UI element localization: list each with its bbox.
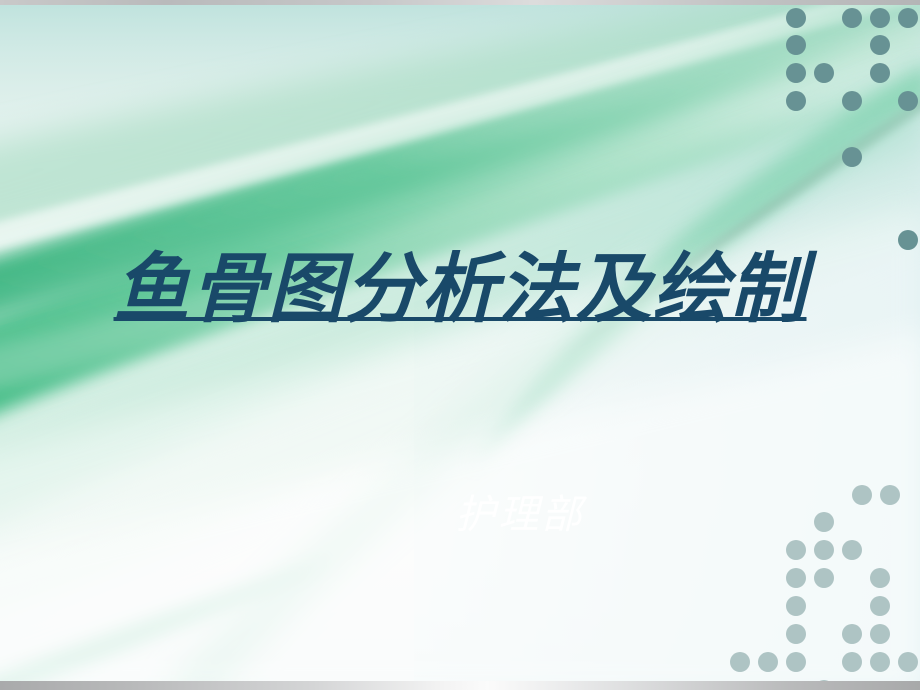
decorative-dot	[870, 35, 890, 55]
decorative-dot	[786, 652, 806, 672]
presentation-slide: 鱼骨图分析法及绘制 护理部	[0, 0, 920, 690]
decorative-dot	[842, 652, 862, 672]
decorative-dot	[870, 596, 890, 616]
decorative-dot	[786, 91, 806, 111]
decorative-dot	[758, 652, 778, 672]
decorative-dot	[842, 624, 862, 644]
decorative-dot	[870, 63, 890, 83]
decorative-dot	[786, 624, 806, 644]
green-ribbons-decoration	[0, 0, 920, 690]
decorative-dot	[898, 91, 918, 111]
decorative-dot	[852, 485, 872, 505]
decorative-dot	[786, 568, 806, 588]
top-frame-strip	[0, 0, 920, 5]
decorative-dot	[814, 63, 834, 83]
decorative-dot	[880, 485, 900, 505]
decorative-dot	[786, 596, 806, 616]
decorative-dot	[870, 568, 890, 588]
decorative-dot	[870, 8, 890, 28]
decorative-dot	[870, 652, 890, 672]
decorative-dot	[898, 8, 918, 28]
decorative-dot	[898, 230, 918, 250]
decorative-dot	[786, 8, 806, 28]
decorative-dot	[786, 63, 806, 83]
decorative-dot	[730, 652, 750, 672]
decorative-dot	[842, 91, 862, 111]
decorative-dot	[898, 652, 918, 672]
decorative-dot	[842, 147, 862, 167]
decorative-dot	[842, 8, 862, 28]
decorative-dot	[814, 512, 834, 532]
decorative-dot	[786, 35, 806, 55]
decorative-dot	[786, 540, 806, 560]
decorative-dot	[842, 540, 862, 560]
decorative-dot	[870, 624, 890, 644]
decorative-dot	[814, 568, 834, 588]
bottom-frame-strip	[0, 681, 920, 690]
decorative-dot	[814, 540, 834, 560]
